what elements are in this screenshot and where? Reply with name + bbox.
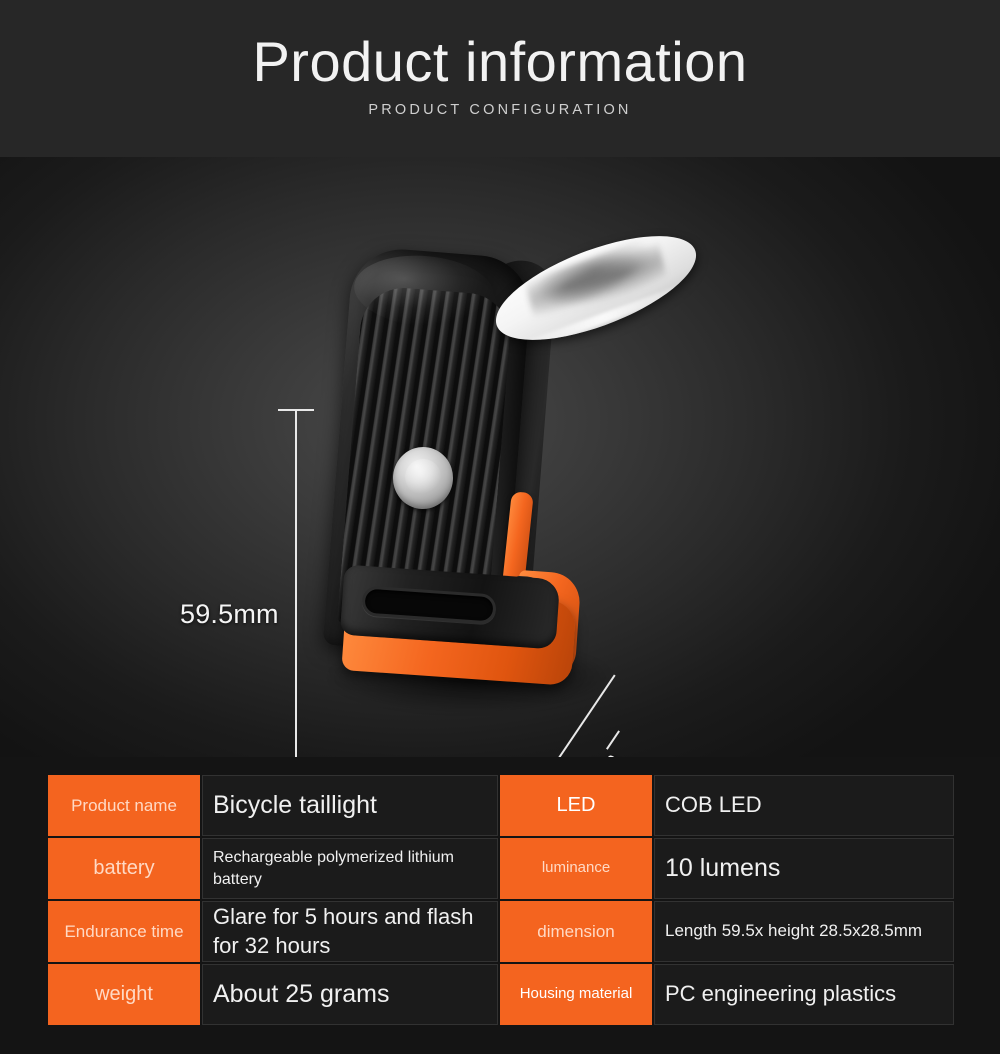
spec-label-battery: battery — [48, 838, 200, 899]
spec-value-endurance-time: Glare for 5 hours and flash for 32 hours — [202, 901, 498, 962]
spec-value-dimension: Length 59.5x height 28.5x28.5mm — [654, 901, 954, 962]
spec-value-weight: About 25 grams — [202, 964, 498, 1025]
product-information-page: Product information PRODUCT CONFIGURATIO… — [0, 0, 1000, 1054]
spec-label-housing-material: Housing material — [500, 964, 652, 1025]
spec-label-dimension: dimension — [500, 901, 652, 962]
spec-value-product-name: Bicycle taillight — [202, 775, 498, 836]
spec-label-luminance: luminance — [500, 838, 652, 899]
product-illustration — [320, 242, 640, 757]
spec-label-led: LED — [500, 775, 652, 836]
spec-value-housing-material: PC engineering plastics — [654, 964, 954, 1025]
page-subtitle: PRODUCT CONFIGURATION — [368, 102, 631, 118]
spec-value-led: COB LED — [654, 775, 954, 836]
spec-value-luminance: 10 lumens — [654, 838, 954, 899]
height-dimension-line — [295, 409, 297, 757]
cob-led-reflector-panel — [487, 215, 705, 362]
spec-label-endurance-time: Endurance time — [48, 901, 200, 962]
page-title: Product information — [252, 33, 747, 92]
spec-value-battery: Rechargeable polymerized lithium battery — [202, 838, 498, 899]
specification-table: Product name Bicycle taillight LED COB L… — [48, 775, 948, 1025]
spec-label-product-name: Product name — [48, 775, 200, 836]
height-dimension-label: 59.5mm — [180, 599, 279, 630]
spec-label-weight: weight — [48, 964, 200, 1025]
page-header: Product information PRODUCT CONFIGURATIO… — [0, 0, 1000, 157]
product-image-area: 59.5mm 28.5mm 28.5mm — [0, 157, 1000, 757]
